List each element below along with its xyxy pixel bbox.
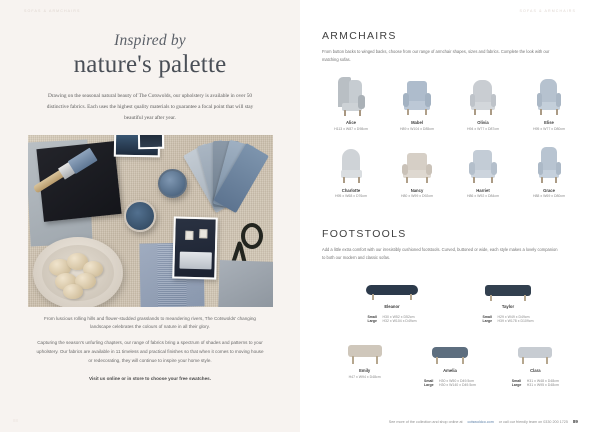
product-image	[318, 71, 384, 117]
product-image	[450, 71, 516, 117]
product-image	[516, 71, 582, 117]
size-label: Large	[367, 319, 379, 323]
product-name: Amelia	[407, 368, 492, 373]
hero-script-line: Inspired by	[0, 32, 300, 50]
running-head-right: SOFAS & ARMCHAIRS	[520, 9, 576, 13]
product-card[interactable]: Elise H95 x W77 x D80cm	[516, 71, 582, 131]
product-card[interactable]: Alice H113 x W87 x D98cm	[318, 71, 384, 131]
armchairs-title: ARMCHAIRS	[322, 30, 578, 42]
photo-print-bedroom	[172, 216, 218, 279]
product-card[interactable]: Nancy H80 x W99 x D92cm	[384, 139, 450, 199]
size-label: Large	[483, 319, 495, 323]
intro-paragraph: Drawing on the seasonal natural beauty o…	[38, 91, 262, 124]
product-size-options: Small H30 x W52 x D52cm Large H32 x W104…	[367, 315, 416, 323]
product-dimensions: H47 x W94 x D48cm	[322, 375, 407, 379]
armchairs-row-1: Alice H113 x W87 x D98cm Mabel H89 x W10…	[300, 71, 600, 131]
product-name: Elise	[516, 120, 582, 125]
product-dimensions: H80 x W99 x D92cm	[384, 194, 450, 198]
swatch-cta-text: Visit us online or in store to choose yo…	[34, 375, 266, 384]
product-image	[407, 339, 492, 365]
product-image	[493, 339, 578, 365]
page-footer: See more of the collection and shop onli…	[322, 419, 578, 424]
product-card[interactable]: Olivia H94 x W77 x D87cm	[450, 71, 516, 131]
product-name: Olivia	[450, 120, 516, 125]
product-card[interactable]: Charlotte H95 x W68 x D76cm	[318, 139, 384, 199]
product-card[interactable]: Clara Small H31 x W48 x D48cm Large H31 …	[493, 339, 578, 391]
product-dimensions: H95 x W68 x D76cm	[318, 194, 384, 198]
catalog-spread: SOFAS & ARMCHAIRS Inspired by nature's p…	[0, 0, 600, 432]
body-copy: From luscious rolling hills and flower-s…	[34, 315, 266, 384]
product-name: Emily	[322, 368, 407, 373]
product-image	[318, 139, 384, 185]
product-size-options: Small H31 x W48 x D48cm Large H31 x W95 …	[512, 379, 559, 387]
product-size-options: Small H30 x W50 x D49.5cm Large H30 x W1…	[424, 379, 476, 387]
size-dimensions: H31 x W95 x D48cm	[527, 383, 559, 387]
footstools-row-2: Emily H47 x W94 x D48cm Amelia Small H30…	[300, 339, 600, 391]
right-page: SOFAS & ARMCHAIRS ARMCHAIRS From button …	[300, 0, 600, 432]
product-image	[384, 71, 450, 117]
size-label: Large	[512, 383, 524, 387]
product-name: Eleanor	[334, 304, 450, 309]
product-name: Alice	[318, 120, 384, 125]
footer-text-before: See more of the collection and shop onli…	[389, 420, 463, 424]
ceramic-bowl	[33, 237, 123, 307]
product-name: Nancy	[384, 188, 450, 193]
page-number-left: 88	[13, 418, 18, 423]
product-name: Clara	[493, 368, 578, 373]
product-card[interactable]: Grace H88 x W69 x D80cm	[516, 139, 582, 199]
product-dimensions: H95 x W77 x D80cm	[516, 127, 582, 131]
product-name: Charlotte	[318, 188, 384, 193]
page-number-right: 89	[573, 419, 578, 424]
product-card[interactable]: Eleanor Small H30 x W52 x D52cm Large H3…	[334, 271, 450, 327]
size-dimensions: H32 x W104 x D49cm	[382, 319, 416, 323]
product-card[interactable]: Harriet H86 x W92 x D84cm	[450, 139, 516, 199]
product-image	[322, 339, 407, 365]
footstools-title: FOOTSTOOLS	[322, 228, 578, 240]
size-label: Large	[424, 383, 436, 387]
product-image	[450, 271, 566, 301]
product-card[interactable]: Taylor Small H29 x W49 x D49cm Large H39…	[450, 271, 566, 327]
product-name: Harriet	[450, 188, 516, 193]
product-dimensions: H88 x W69 x D80cm	[516, 194, 582, 198]
footstools-intro: Add a little extra comfort with our irre…	[322, 246, 558, 261]
paint-pot-light	[158, 169, 187, 198]
armchairs-section: ARMCHAIRS From button backs to winged ba…	[300, 30, 600, 63]
paint-pot-dark	[124, 200, 156, 232]
product-name: Taylor	[450, 304, 566, 309]
product-image	[450, 139, 516, 185]
footstools-row-1: Eleanor Small H30 x W52 x D52cm Large H3…	[300, 271, 600, 327]
armchairs-intro: From button backs to winged backs, choos…	[322, 48, 558, 63]
product-image	[334, 271, 450, 301]
size-dimensions: H30 x W140 x D49.5cm	[439, 383, 476, 387]
body-paragraph-1: From luscious rolling hills and flower-s…	[34, 315, 266, 333]
product-card[interactable]: Emily H47 x W94 x D48cm	[322, 339, 407, 391]
photo-print-top-small	[137, 135, 163, 149]
product-name: Grace	[516, 188, 582, 193]
product-name: Mabel	[384, 120, 450, 125]
hero-serif-line: nature's palette	[0, 51, 300, 79]
running-head-left: SOFAS & ARMCHAIRS	[24, 9, 80, 13]
product-dimensions: H86 x W92 x D84cm	[450, 194, 516, 198]
left-page: SOFAS & ARMCHAIRS Inspired by nature's p…	[0, 0, 300, 432]
fabric-swatch-flatlay-photo	[28, 135, 273, 307]
swatch-fan	[197, 137, 273, 211]
product-card[interactable]: Amelia Small H30 x W50 x D49.5cm Large H…	[407, 339, 492, 391]
product-dimensions: H113 x W87 x D98cm	[318, 127, 384, 131]
product-size-options: Small H29 x W49 x D49cm Large H39 x W178…	[483, 315, 534, 323]
product-dimensions: H94 x W77 x D87cm	[450, 127, 516, 131]
swatch-grey-right	[218, 260, 273, 307]
product-image	[384, 139, 450, 185]
footstools-section: FOOTSTOOLS Add a little extra comfort wi…	[300, 228, 600, 261]
product-image	[516, 139, 582, 185]
size-dimensions: H39 x W178 x D109cm	[498, 319, 534, 323]
footer-text-after: or call our friendly team on 0330 200 17…	[499, 420, 568, 424]
product-dimensions: H89 x W104 x D85cm	[384, 127, 450, 131]
armchairs-row-2: Charlotte H95 x W68 x D76cm Nancy H80 x …	[300, 139, 600, 199]
body-paragraph-2: Capturing the season's unfurling chapter…	[34, 339, 266, 365]
product-card[interactable]: Mabel H89 x W104 x D85cm	[384, 71, 450, 131]
website-link[interactable]: cotswoldco.com	[468, 420, 494, 424]
